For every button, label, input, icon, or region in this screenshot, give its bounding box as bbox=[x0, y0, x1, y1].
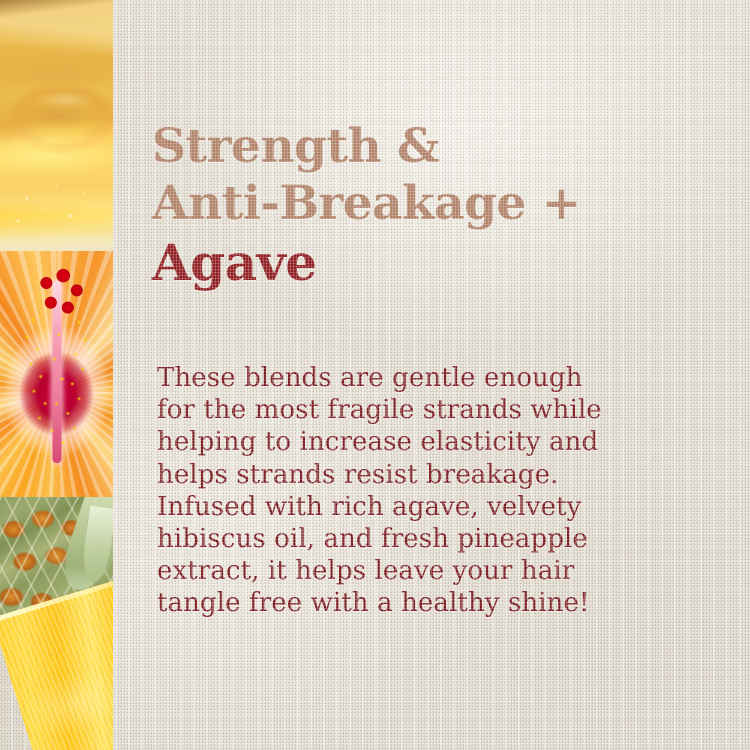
headline-line-1: Strength & bbox=[152, 118, 750, 175]
poster-content: Strength & Anti-Breakage + Agave These b… bbox=[113, 0, 750, 750]
honey-bubble-layer bbox=[0, 0, 113, 251]
product-benefit-poster: Strength & Anti-Breakage + Agave These b… bbox=[0, 0, 750, 750]
body-line: hibiscus oil, and fresh pineapple bbox=[157, 523, 737, 555]
headline-line-2: Anti-Breakage + bbox=[152, 175, 750, 232]
hibiscus-flower-photo bbox=[0, 251, 113, 497]
body-line: extract, it helps leave your hair bbox=[157, 555, 737, 587]
honey-agave-nectar-photo bbox=[0, 0, 113, 251]
body-line: These blends are gentle enough bbox=[157, 362, 737, 394]
body-line: Infused with rich agave, velvety bbox=[157, 491, 737, 523]
body-line: for the most fragile strands while bbox=[157, 394, 737, 426]
pineapple-photo bbox=[0, 497, 113, 750]
headline-block: Strength & Anti-Breakage + Agave bbox=[152, 118, 750, 293]
body-line: helping to increase elasticity and bbox=[157, 426, 737, 458]
ingredient-photo-strip bbox=[0, 0, 113, 750]
body-copy-block: These blends are gentle enough for the m… bbox=[157, 362, 737, 620]
body-line: tangle free with a healthy shine! bbox=[157, 587, 737, 619]
body-line: helps strands resist breakage. bbox=[157, 459, 737, 491]
hibiscus-anther-layer bbox=[0, 251, 113, 497]
headline-accent: Agave bbox=[152, 233, 750, 293]
